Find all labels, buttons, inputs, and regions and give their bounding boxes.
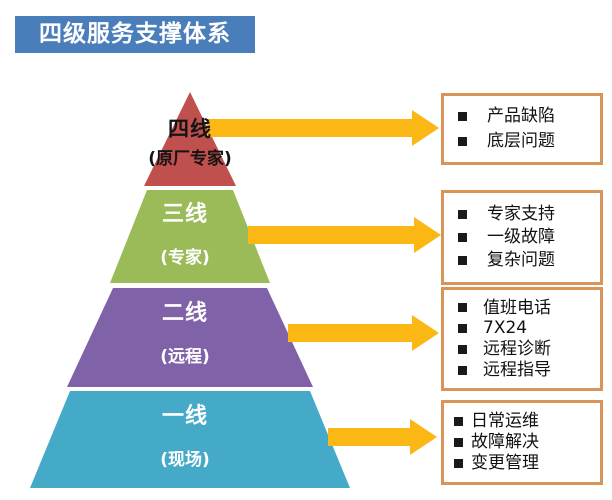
pyramid-tier-1-label: 一线 (现场) bbox=[125, 405, 245, 470]
title-banner: 四级服务支撑体系 bbox=[15, 16, 255, 53]
arrow-tier-2 bbox=[288, 315, 439, 351]
list-item: 底层问题 bbox=[458, 131, 600, 152]
pyramid-tier-2-label: 二线 (远程) bbox=[125, 302, 245, 367]
arrow-tier-3 bbox=[248, 217, 441, 253]
list-item: 远程诊断 bbox=[458, 339, 600, 360]
callout-item-label: 产品缺陷 bbox=[487, 106, 555, 127]
tier-2-title: 二线 bbox=[125, 302, 245, 326]
list-item: 专家支持 bbox=[458, 204, 600, 225]
list-item: 产品缺陷 bbox=[458, 106, 600, 127]
tier-4-title: 四线 bbox=[130, 118, 250, 141]
tier-1-subtitle: (现场) bbox=[125, 451, 245, 470]
bullet-square-icon bbox=[458, 366, 467, 375]
list-item: 远程指导 bbox=[458, 360, 600, 381]
bullet-square-icon bbox=[458, 210, 467, 219]
pyramid-tier-3-label: 三线 (专家) bbox=[125, 203, 245, 268]
bullet-square-icon bbox=[458, 324, 467, 333]
bullet-square-icon bbox=[458, 256, 467, 265]
bullet-square-icon bbox=[458, 233, 467, 242]
callout-item-label: 底层问题 bbox=[487, 131, 555, 152]
list-item: 值班电话 bbox=[458, 298, 600, 319]
bullet-square-icon bbox=[458, 137, 467, 146]
callout-item-label: 故障解决 bbox=[471, 432, 539, 453]
tier-3-title: 三线 bbox=[125, 203, 245, 227]
tier-2-subtitle: (远程) bbox=[125, 348, 245, 367]
bullet-square-icon bbox=[454, 459, 463, 468]
tier-4-subtitle: (原厂专家) bbox=[130, 150, 250, 169]
list-item: 复杂问题 bbox=[458, 250, 600, 271]
callout-item-label: 值班电话 bbox=[483, 298, 551, 319]
callout-box-tier-2: 值班电话 7X24 远程诊断 远程指导 bbox=[441, 287, 603, 391]
diagram-canvas: 四级服务支撑体系 四线 (原厂专家) 三线 (专家) 二线 (远程) 一线 (现 bbox=[0, 0, 612, 500]
callout-box-tier-1: 日常运维 故障解决 变更管理 bbox=[441, 400, 603, 485]
pyramid-tier-4-label: 四线 (原厂专家) bbox=[130, 118, 250, 169]
bullet-square-icon bbox=[454, 417, 463, 426]
callout-item-label: 一级故障 bbox=[487, 227, 555, 248]
callout-item-label: 日常运维 bbox=[471, 411, 539, 432]
list-item: 一级故障 bbox=[458, 227, 600, 248]
callout-item-label: 复杂问题 bbox=[487, 250, 555, 271]
callout-item-label: 远程指导 bbox=[483, 360, 551, 381]
bullet-square-icon bbox=[454, 438, 463, 447]
callout-item-label: 变更管理 bbox=[471, 453, 539, 474]
callout-item-label: 7X24 bbox=[483, 318, 527, 339]
tier-1-title: 一线 bbox=[125, 405, 245, 429]
callout-item-label: 专家支持 bbox=[487, 204, 555, 225]
list-item: 变更管理 bbox=[454, 453, 600, 474]
callout-item-label: 远程诊断 bbox=[483, 339, 551, 360]
bullet-square-icon bbox=[458, 345, 467, 354]
arrow-tier-1 bbox=[328, 419, 437, 455]
list-item: 故障解决 bbox=[454, 432, 600, 453]
list-item: 日常运维 bbox=[454, 411, 600, 432]
callout-box-tier-4: 产品缺陷 底层问题 bbox=[441, 93, 603, 165]
list-item: 7X24 bbox=[458, 318, 600, 339]
bullet-square-icon bbox=[458, 112, 467, 121]
page-title: 四级服务支撑体系 bbox=[39, 23, 231, 46]
bullet-square-icon bbox=[458, 303, 467, 312]
callout-box-tier-3: 专家支持 一级故障 复杂问题 bbox=[441, 190, 603, 285]
tier-3-subtitle: (专家) bbox=[125, 249, 245, 268]
